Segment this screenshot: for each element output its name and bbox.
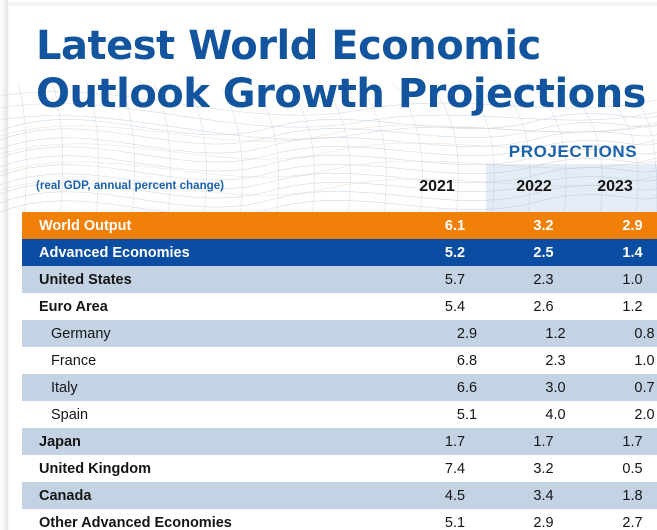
table-row: Japan1.71.71.7 bbox=[22, 428, 657, 455]
row-label: France bbox=[22, 353, 426, 369]
row-value-2021: 6.6 bbox=[426, 380, 508, 396]
row-label: Euro Area bbox=[22, 299, 414, 315]
table-row: France6.82.31.0 bbox=[22, 347, 657, 374]
column-header-2023: 2023 bbox=[575, 178, 655, 196]
row-value-2022: 2.3 bbox=[496, 272, 591, 288]
row-value-2022: 2.3 bbox=[508, 353, 603, 369]
row-label: Spain bbox=[22, 407, 426, 423]
row-label: World Output bbox=[22, 218, 414, 234]
row-value-2021: 6.1 bbox=[414, 218, 496, 234]
row-value-2022: 1.2 bbox=[508, 326, 603, 342]
row-value-2023: 0.7 bbox=[603, 380, 657, 396]
table-subtitle: (real GDP, annual percent change) bbox=[36, 180, 224, 192]
row-value-2022: 3.2 bbox=[496, 461, 591, 477]
table-row: Italy6.63.00.7 bbox=[22, 374, 657, 401]
row-value-2021: 1.7 bbox=[414, 434, 496, 450]
row-value-2021: 7.4 bbox=[414, 461, 496, 477]
row-value-2023: 1.0 bbox=[603, 353, 657, 369]
row-value-2023: 0.5 bbox=[591, 461, 657, 477]
table-row: Euro Area5.42.61.2 bbox=[22, 293, 657, 320]
column-header-2021: 2021 bbox=[397, 178, 477, 196]
table-row: Canada4.53.41.8 bbox=[22, 482, 657, 509]
row-label: Germany bbox=[22, 326, 426, 342]
row-value-2023: 1.2 bbox=[591, 299, 657, 315]
row-value-2021: 5.1 bbox=[426, 407, 508, 423]
row-label: United States bbox=[22, 272, 414, 288]
row-label: United Kingdom bbox=[22, 461, 414, 477]
row-label: Canada bbox=[22, 488, 414, 504]
row-value-2022: 3.0 bbox=[508, 380, 603, 396]
row-value-2021: 6.8 bbox=[426, 353, 508, 369]
table-row: World Output6.13.22.9 bbox=[22, 212, 657, 239]
page-edge-top bbox=[0, 0, 657, 7]
row-value-2023: 1.0 bbox=[591, 272, 657, 288]
projections-table: World Output6.13.22.9Advanced Economies5… bbox=[22, 212, 657, 530]
row-value-2021: 5.2 bbox=[414, 245, 496, 261]
row-value-2023: 1.4 bbox=[591, 245, 657, 261]
row-label: Other Advanced Economies bbox=[22, 515, 414, 530]
row-value-2022: 3.4 bbox=[496, 488, 591, 504]
table-row: Advanced Economies5.22.51.4 bbox=[22, 239, 657, 266]
row-value-2021: 5.7 bbox=[414, 272, 496, 288]
row-value-2023: 2.0 bbox=[603, 407, 657, 423]
table-row: Other Advanced Economies5.12.92.7 bbox=[22, 509, 657, 530]
row-value-2022: 1.7 bbox=[496, 434, 591, 450]
row-value-2021: 5.1 bbox=[414, 515, 496, 530]
page-edge-left bbox=[0, 0, 9, 530]
table-row: United States5.72.31.0 bbox=[22, 266, 657, 293]
column-header-2022: 2022 bbox=[494, 178, 574, 196]
row-value-2021: 4.5 bbox=[414, 488, 496, 504]
row-value-2023: 0.8 bbox=[603, 326, 657, 342]
table-row: United Kingdom7.43.20.5 bbox=[22, 455, 657, 482]
row-value-2022: 2.9 bbox=[496, 515, 591, 530]
row-value-2023: 2.9 bbox=[591, 218, 657, 234]
row-value-2023: 2.7 bbox=[591, 515, 657, 530]
row-value-2023: 1.7 bbox=[591, 434, 657, 450]
row-value-2022: 2.6 bbox=[496, 299, 591, 315]
table-row: Germany2.91.20.8 bbox=[22, 320, 657, 347]
table-row: Spain5.14.02.0 bbox=[22, 401, 657, 428]
projections-label: PROJECTIONS bbox=[489, 142, 657, 162]
title-line-1: Latest World Economic bbox=[36, 22, 651, 70]
row-value-2022: 2.5 bbox=[496, 245, 591, 261]
page-root: Latest World Economic Outlook Growth Pro… bbox=[0, 0, 657, 530]
row-value-2021: 5.4 bbox=[414, 299, 496, 315]
row-value-2022: 3.2 bbox=[496, 218, 591, 234]
row-label: Italy bbox=[22, 380, 426, 396]
page-title: Latest World Economic Outlook Growth Pro… bbox=[36, 22, 651, 118]
row-value-2023: 1.8 bbox=[591, 488, 657, 504]
row-label: Advanced Economies bbox=[22, 245, 414, 261]
row-value-2022: 4.0 bbox=[508, 407, 603, 423]
row-value-2021: 2.9 bbox=[426, 326, 508, 342]
title-line-2: Outlook Growth Projections bbox=[36, 70, 651, 118]
row-label: Japan bbox=[22, 434, 414, 450]
